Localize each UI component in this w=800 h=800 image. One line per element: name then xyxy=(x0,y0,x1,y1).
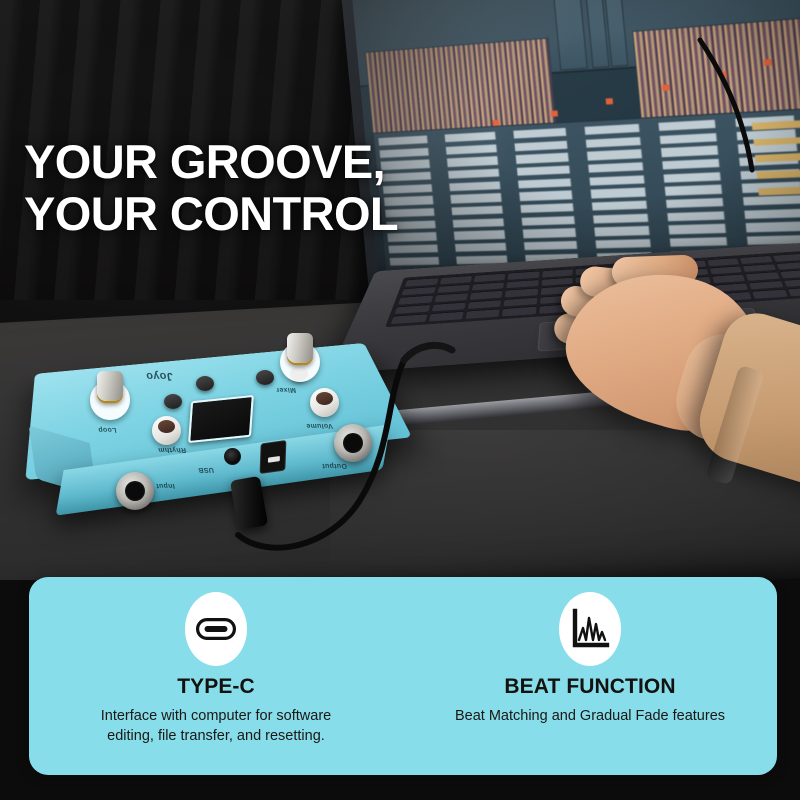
feature-item-beat-function: BEAT FUNCTION Beat Matching and Gradual … xyxy=(403,577,777,775)
feature-item-type-c: TYPE-C Interface with computer for softw… xyxy=(29,577,403,775)
beat-waveform-glyph xyxy=(569,608,611,650)
feature-description: Beat Matching and Gradual Fade features xyxy=(455,706,725,726)
headline-line-2: YOUR CONTROL xyxy=(24,188,398,240)
beat-waveform-chart-icon xyxy=(559,592,621,666)
feature-panel: TYPE-C Interface with computer for softw… xyxy=(29,577,777,775)
feature-description: Interface with computer for software edi… xyxy=(101,706,332,746)
feature-description-line-1: Beat Matching and Gradual Fade features xyxy=(455,706,725,726)
product-feature-banner: Joyo Loop Mixer Rhythm Volume Input Outp… xyxy=(0,0,800,800)
usb-c-port-icon xyxy=(185,592,247,666)
feature-title: TYPE-C xyxy=(177,675,255,699)
feature-title: BEAT FUNCTION xyxy=(504,675,675,699)
usb-c-cable xyxy=(0,0,800,580)
feature-description-line-1: Interface with computer for software xyxy=(101,706,332,726)
feature-description-line-2: editing, file transfer, and resetting. xyxy=(101,726,332,746)
product-photo-scene: Joyo Loop Mixer Rhythm Volume Input Outp… xyxy=(0,0,800,580)
headline-line-1: YOUR GROOVE, xyxy=(24,136,398,188)
usb-c-port-glyph xyxy=(196,618,236,640)
page-title: YOUR GROOVE, YOUR CONTROL xyxy=(24,136,398,240)
